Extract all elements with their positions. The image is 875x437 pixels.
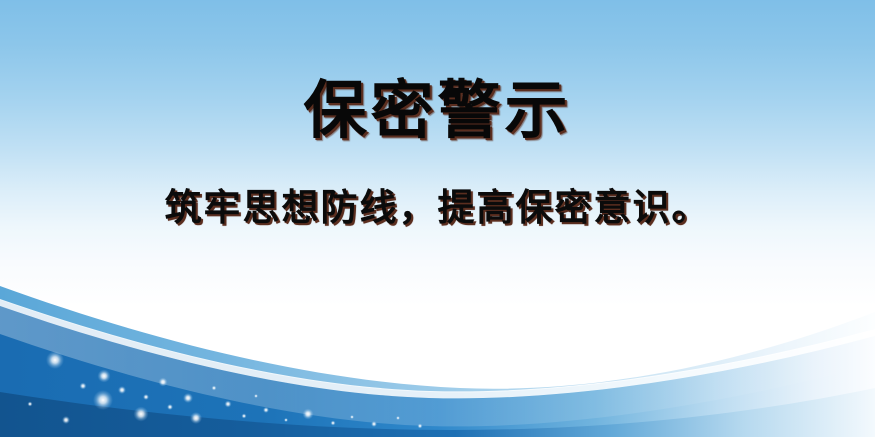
page-title: 保密警示 — [0, 0, 875, 144]
banner-text-block: 保密警示 筑牢思想防线，提高保密意识。 — [0, 0, 875, 229]
banner-slogan: 筑牢思想防线，提高保密意识。 — [0, 144, 875, 229]
secrecy-warning-banner: 保密警示 筑牢思想防线，提高保密意识。 — [0, 0, 875, 437]
